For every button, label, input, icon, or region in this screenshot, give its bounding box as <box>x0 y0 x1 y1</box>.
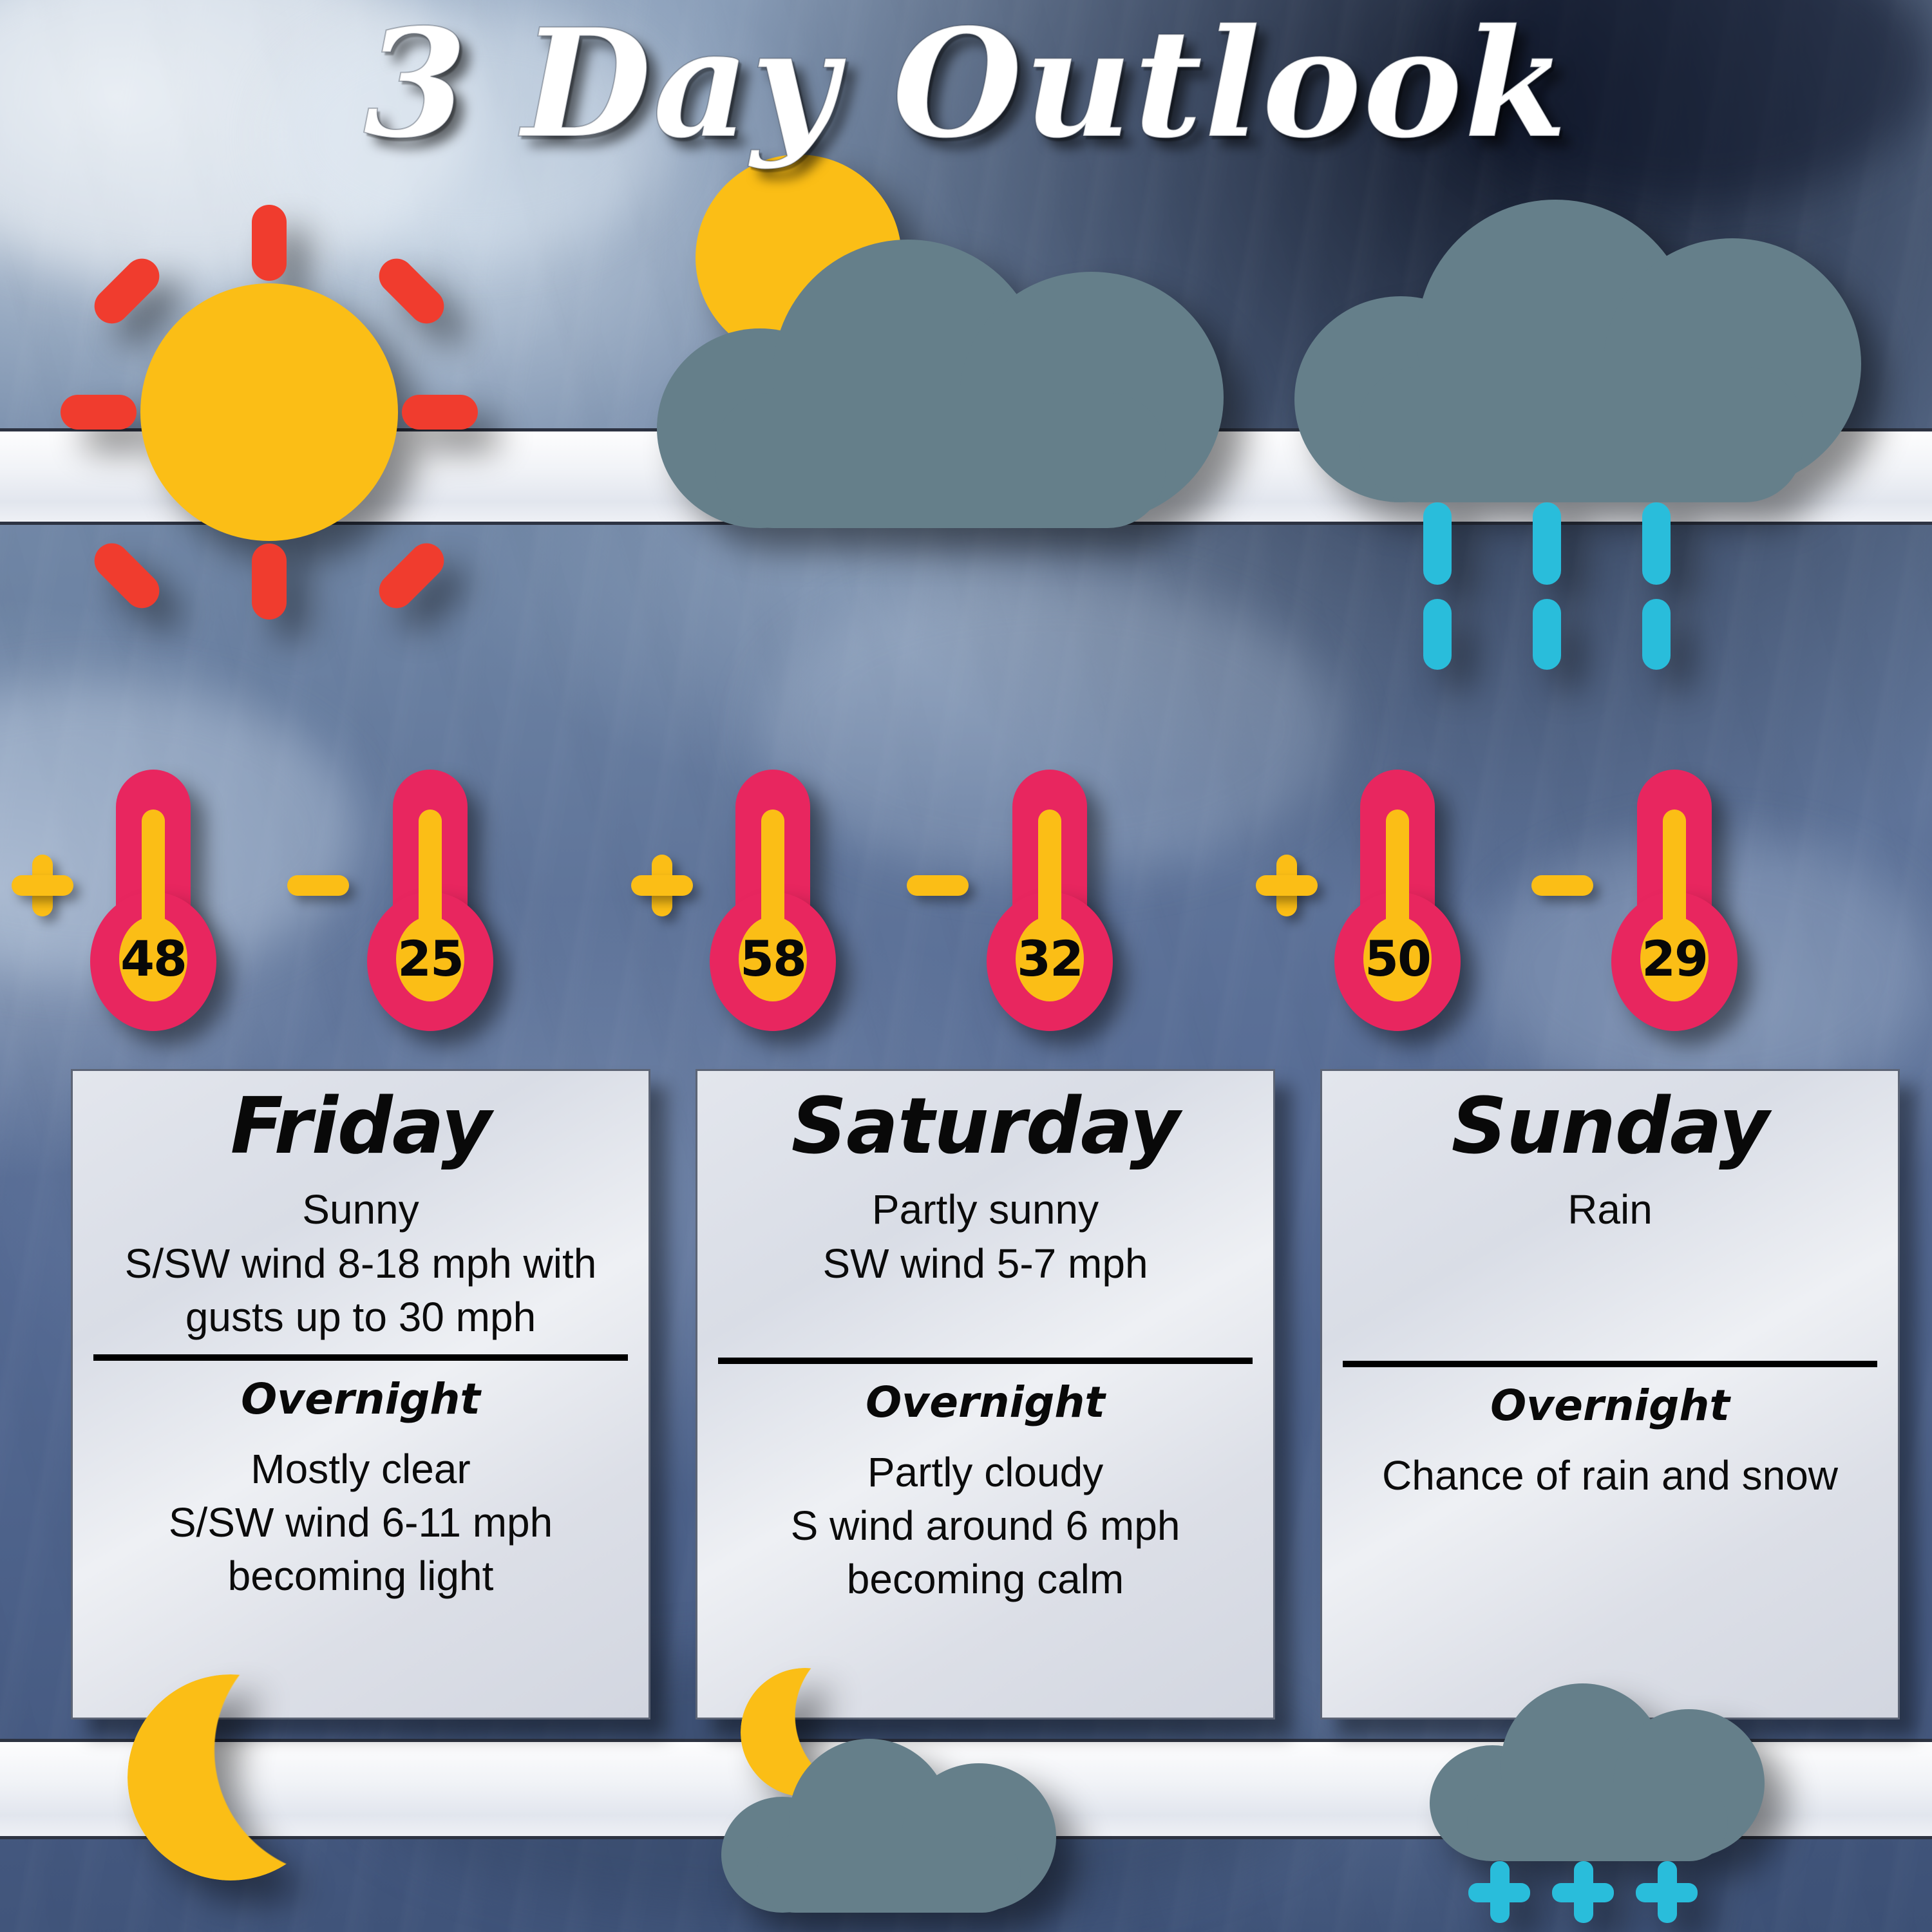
night-line: Chance of rain and snow <box>1339 1449 1881 1502</box>
three-day-outlook-graphic: 3 Day Outlook 48 <box>0 0 1932 1932</box>
thermometer-low-sunday: 29 <box>1578 770 1771 1040</box>
card-divider <box>1343 1361 1877 1367</box>
weather-icon-friday <box>31 193 649 773</box>
cloud-base <box>1467 1784 1728 1861</box>
overnight-label: Overnight <box>714 1370 1256 1434</box>
sun-ray-sw <box>87 536 166 615</box>
raindrop-5 <box>1533 599 1561 670</box>
raindrop-1 <box>1423 502 1452 585</box>
thermometer-reading: 29 <box>1640 916 1709 1001</box>
thermometer-reading: 32 <box>1016 916 1084 1001</box>
night-icon-friday-wrap <box>31 1649 649 1932</box>
sun-ray-w <box>61 395 137 430</box>
thermometers-friday: 48 25 <box>31 770 649 1040</box>
forecast-card-sunday[interactable]: Sunday Rain Overnight Chance of rain and… <box>1320 1069 1900 1719</box>
day-title: Saturday <box>714 1080 1256 1174</box>
thermometer-low-saturday: 32 <box>953 770 1146 1040</box>
card-divider <box>718 1358 1253 1364</box>
thermometer-high-sunday: 50 <box>1301 770 1494 1040</box>
day-line: Rain <box>1339 1183 1881 1236</box>
raindrop-3 <box>1642 502 1671 585</box>
sun-ray-s <box>252 544 287 620</box>
weather-icon-sunday <box>1275 193 1893 773</box>
minus-sign-icon <box>287 855 349 916</box>
plus-sign-icon <box>12 855 73 916</box>
crescent-moon-icon <box>128 1674 334 1880</box>
forecast-card-friday[interactable]: Friday Sunny S/SW wind 8-18 mph with gus… <box>71 1069 650 1719</box>
raindrop-2 <box>1533 502 1561 585</box>
overnight-label: Overnight <box>90 1367 632 1431</box>
night-line: becoming light <box>90 1549 632 1603</box>
thermometer-high-saturday: 58 <box>676 770 869 1040</box>
night-conditions: Mostly clear S/SW wind 6-11 mph becoming… <box>90 1443 632 1604</box>
raindrop-4 <box>1423 599 1452 670</box>
sun-icon <box>76 219 462 605</box>
snowflake-1 <box>1468 1861 1530 1923</box>
sun-ray-nw <box>87 251 166 330</box>
moon-behind-cloud-icon <box>721 1668 1056 1913</box>
thermometers-saturday: 58 32 <box>650 770 1269 1040</box>
night-icon-saturday-wrap <box>650 1649 1269 1932</box>
plus-sign-icon <box>1256 855 1318 916</box>
high-temp-value: 50 <box>1365 934 1430 983</box>
minus-sign-icon <box>907 855 969 916</box>
cloud-base <box>715 393 1166 528</box>
sun-behind-cloud-icon <box>657 155 1224 567</box>
sun-ray-ne <box>372 251 451 330</box>
thermometer-reading: 48 <box>119 916 187 1001</box>
night-line: S/SW wind 6-11 mph <box>90 1496 632 1549</box>
night-line: S wind around 6 mph <box>714 1499 1256 1553</box>
night-conditions: Partly cloudy S wind around 6 mph becomi… <box>714 1446 1256 1607</box>
forecast-card-saturday[interactable]: Saturday Partly sunny SW wind 5-7 mph Ov… <box>696 1069 1275 1719</box>
day-title: Friday <box>90 1080 632 1174</box>
snowflake-2 <box>1552 1861 1614 1923</box>
thermometers-sunday: 50 29 <box>1275 770 1893 1040</box>
low-temp-value: 32 <box>1017 934 1083 983</box>
thermometer-reading: 58 <box>739 916 807 1001</box>
low-temp-value: 29 <box>1642 934 1707 983</box>
moon-disc <box>128 1674 334 1880</box>
day-line: S/SW wind 8-18 mph with <box>90 1237 632 1291</box>
weather-icon-saturday <box>650 193 1269 773</box>
cloud-shape <box>721 1726 1056 1913</box>
low-temp-value: 25 <box>397 934 463 983</box>
cloud-base <box>757 1835 1021 1913</box>
sun-ray-e <box>402 395 478 430</box>
minus-sign-icon <box>1531 855 1593 916</box>
day-line: Partly sunny <box>714 1183 1256 1236</box>
day-line: gusts up to 30 mph <box>90 1291 632 1344</box>
plus-sign-icon <box>631 855 693 916</box>
day-conditions: Partly sunny SW wind 5-7 mph <box>714 1183 1256 1290</box>
night-line: Partly cloudy <box>714 1446 1256 1499</box>
raindrop-6 <box>1642 599 1671 670</box>
cloud-with-rain-icon <box>1294 180 1861 631</box>
day-title: Sunday <box>1339 1080 1881 1174</box>
night-conditions: Chance of rain and snow <box>1339 1449 1881 1502</box>
cloud-shape <box>1294 180 1861 502</box>
cloud-shape <box>657 213 1224 528</box>
page-title: 3 Day Outlook <box>0 9 1932 158</box>
day-line: Sunny <box>90 1183 632 1236</box>
overnight-label: Overnight <box>1339 1374 1881 1437</box>
sun-ray-n <box>252 205 287 281</box>
high-temp-value: 58 <box>740 934 806 983</box>
card-divider <box>93 1354 628 1361</box>
day-conditions: Sunny S/SW wind 8-18 mph with gusts up t… <box>90 1183 632 1344</box>
cloud-with-snow-icon <box>1430 1674 1765 1932</box>
thermometer-reading: 25 <box>396 916 464 1001</box>
day-line: SW wind 5-7 mph <box>714 1237 1256 1291</box>
day-conditions: Rain <box>1339 1183 1881 1236</box>
snowflake-3 <box>1636 1861 1698 1923</box>
high-temp-value: 48 <box>120 934 186 983</box>
sun-disc <box>140 283 398 541</box>
cloud-base <box>1359 367 1803 502</box>
night-line: Mostly clear <box>90 1443 632 1496</box>
night-icon-sunday-wrap <box>1275 1649 1893 1932</box>
thermometer-low-friday: 25 <box>334 770 527 1040</box>
cloud-shape <box>1430 1674 1765 1861</box>
thermometer-reading: 50 <box>1363 916 1432 1001</box>
night-line: becoming calm <box>714 1553 1256 1606</box>
sun-ray-se <box>372 536 451 615</box>
thermometer-high-friday: 48 <box>57 770 250 1040</box>
